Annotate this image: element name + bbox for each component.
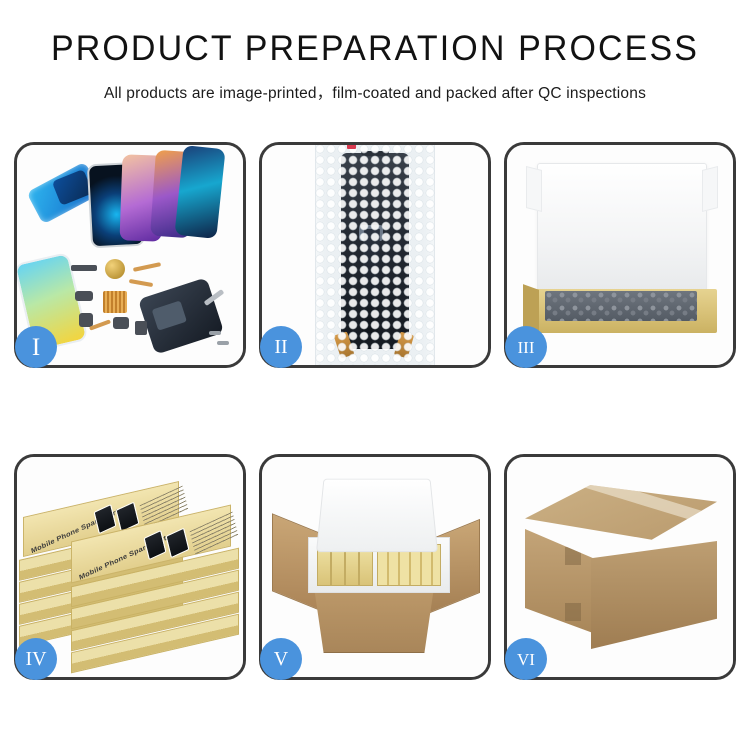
process-step-panel-3[interactable]: III — [504, 142, 736, 368]
part-strip-4 — [113, 317, 129, 329]
carton-right-face — [591, 541, 717, 649]
phone-backplate — [138, 277, 224, 354]
packing-tape — [563, 469, 710, 524]
step-badge-4: IV — [15, 638, 57, 680]
packed-components — [545, 291, 697, 321]
open-carton — [274, 475, 476, 657]
flex-cable-1 — [133, 262, 161, 272]
step-badge-3: III — [505, 326, 547, 368]
foam-liner — [537, 163, 707, 293]
step-badge-5: V — [260, 638, 302, 680]
part-strip-5 — [135, 321, 147, 335]
part-strip-1 — [71, 265, 97, 271]
speaker-part-icon — [105, 259, 125, 279]
box-stack: Mobile Phone Spare Parts Mobile Phone Sp… — [19, 479, 243, 665]
sealed-carton — [525, 485, 717, 651]
carton-handle-tab-top — [565, 547, 581, 565]
page-subtitle: All products are image-printed，film-coat… — [0, 81, 750, 103]
flex-cable-2 — [129, 279, 153, 287]
step-badge-1: I — [15, 326, 57, 368]
connector-chip-icon — [103, 291, 127, 313]
page-title: PRODUCT PREPARATION PROCESS — [11, 30, 739, 69]
process-step-panel-5[interactable]: V — [259, 454, 491, 680]
step-badge-2: II — [260, 326, 302, 368]
process-step-grid: I II III — [14, 142, 736, 682]
screw-2 — [217, 341, 229, 345]
screw-1 — [209, 331, 221, 335]
process-step-panel-1[interactable]: I — [14, 142, 246, 368]
part-strip-2 — [75, 291, 93, 301]
phone-blue — [174, 145, 225, 239]
step-badge-6: VI — [505, 638, 547, 680]
foam-lid — [316, 479, 438, 552]
bubble-bag — [315, 145, 435, 365]
bubble-texture — [315, 145, 435, 365]
carton-left-face — [525, 529, 593, 633]
carton-handle-tab-bottom — [565, 603, 581, 621]
red-label-icon — [347, 145, 356, 149]
kraft-tray — [523, 163, 719, 339]
process-step-panel-6[interactable]: VI — [504, 454, 736, 680]
process-step-panel-4[interactable]: Mobile Phone Spare Parts Mobile Phone Sp… — [14, 454, 246, 680]
page-header: PRODUCT PREPARATION PROCESS All products… — [0, 0, 750, 103]
process-step-panel-2[interactable]: II — [259, 142, 491, 368]
